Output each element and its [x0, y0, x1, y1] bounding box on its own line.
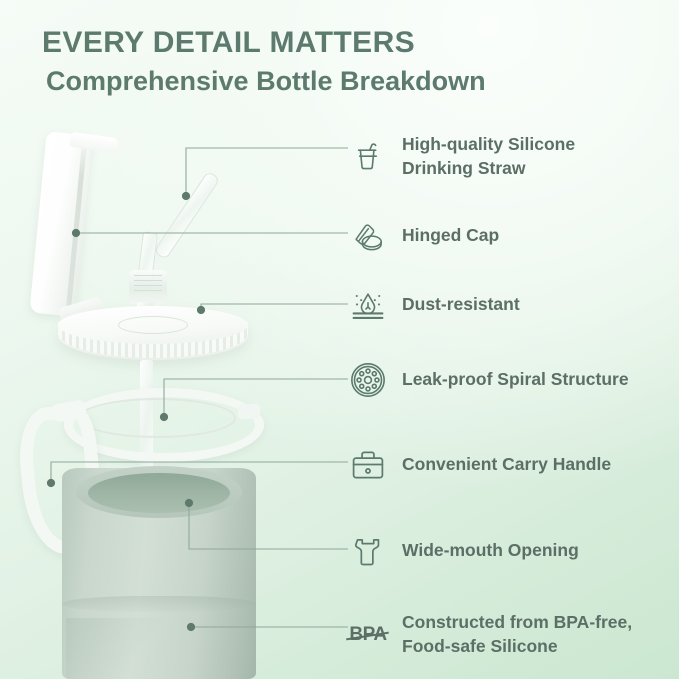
feature-item-carry-handle: Convenient Carry Handle: [348, 445, 679, 485]
feature-label-carry-handle: Convenient Carry Handle: [402, 453, 611, 477]
straw-valve-part: [129, 270, 167, 304]
feature-list: High-quality Silicone Drinking Straw Hin…: [348, 0, 679, 679]
straw-upper-segment: [153, 171, 220, 261]
feature-label-wide-mouth: Wide-mouth Opening: [402, 539, 579, 563]
droplet-dust-icon: [348, 285, 388, 325]
feature-label-drinking-straw: High-quality Silicone Drinking Straw: [402, 133, 575, 181]
screw-lid-inner-ring: [118, 316, 188, 334]
hinged-cap-icon: [348, 216, 388, 256]
feature-item-dust-resistant: Dust-resistant: [348, 285, 679, 325]
bottle-collapsible-fold: [66, 618, 176, 679]
feature-label-leak-proof: Leak-proof Spiral Structure: [402, 368, 629, 392]
bpa-free-icon: BPA: [348, 615, 388, 655]
bottle-waist-crease: [62, 596, 256, 612]
feature-item-wide-mouth: Wide-mouth Opening: [348, 531, 679, 571]
feature-label-hinged-cap: Hinged Cap: [402, 224, 499, 248]
feature-item-leak-proof: Leak-proof Spiral Structure: [348, 360, 679, 400]
feature-item-bpa-free: BPA Constructed from BPA-free, Food-safe…: [348, 611, 679, 659]
briefcase-handle-icon: [348, 445, 388, 485]
feature-label-dust-resistant: Dust-resistant: [402, 293, 520, 317]
product-feature-infographic: EVERY DETAIL MATTERS Comprehensive Bottl…: [0, 0, 679, 679]
wide-mouth-jar-icon: [348, 531, 388, 571]
cup-with-straw-icon: [348, 137, 388, 177]
product-exploded-illustration: [0, 110, 330, 679]
collar-inner-edge: [78, 398, 236, 438]
bottle-mouth-opening: [88, 473, 230, 513]
feature-label-bpa-free: Constructed from BPA-free, Food-safe Sil…: [402, 611, 632, 659]
spiral-seal-icon: [348, 360, 388, 400]
bpa-free-icon-text: BPA: [349, 624, 386, 646]
collar-right-lug: [238, 404, 260, 419]
feature-item-hinged-cap: Hinged Cap: [348, 216, 679, 256]
feature-item-drinking-straw: High-quality Silicone Drinking Straw: [348, 133, 679, 181]
